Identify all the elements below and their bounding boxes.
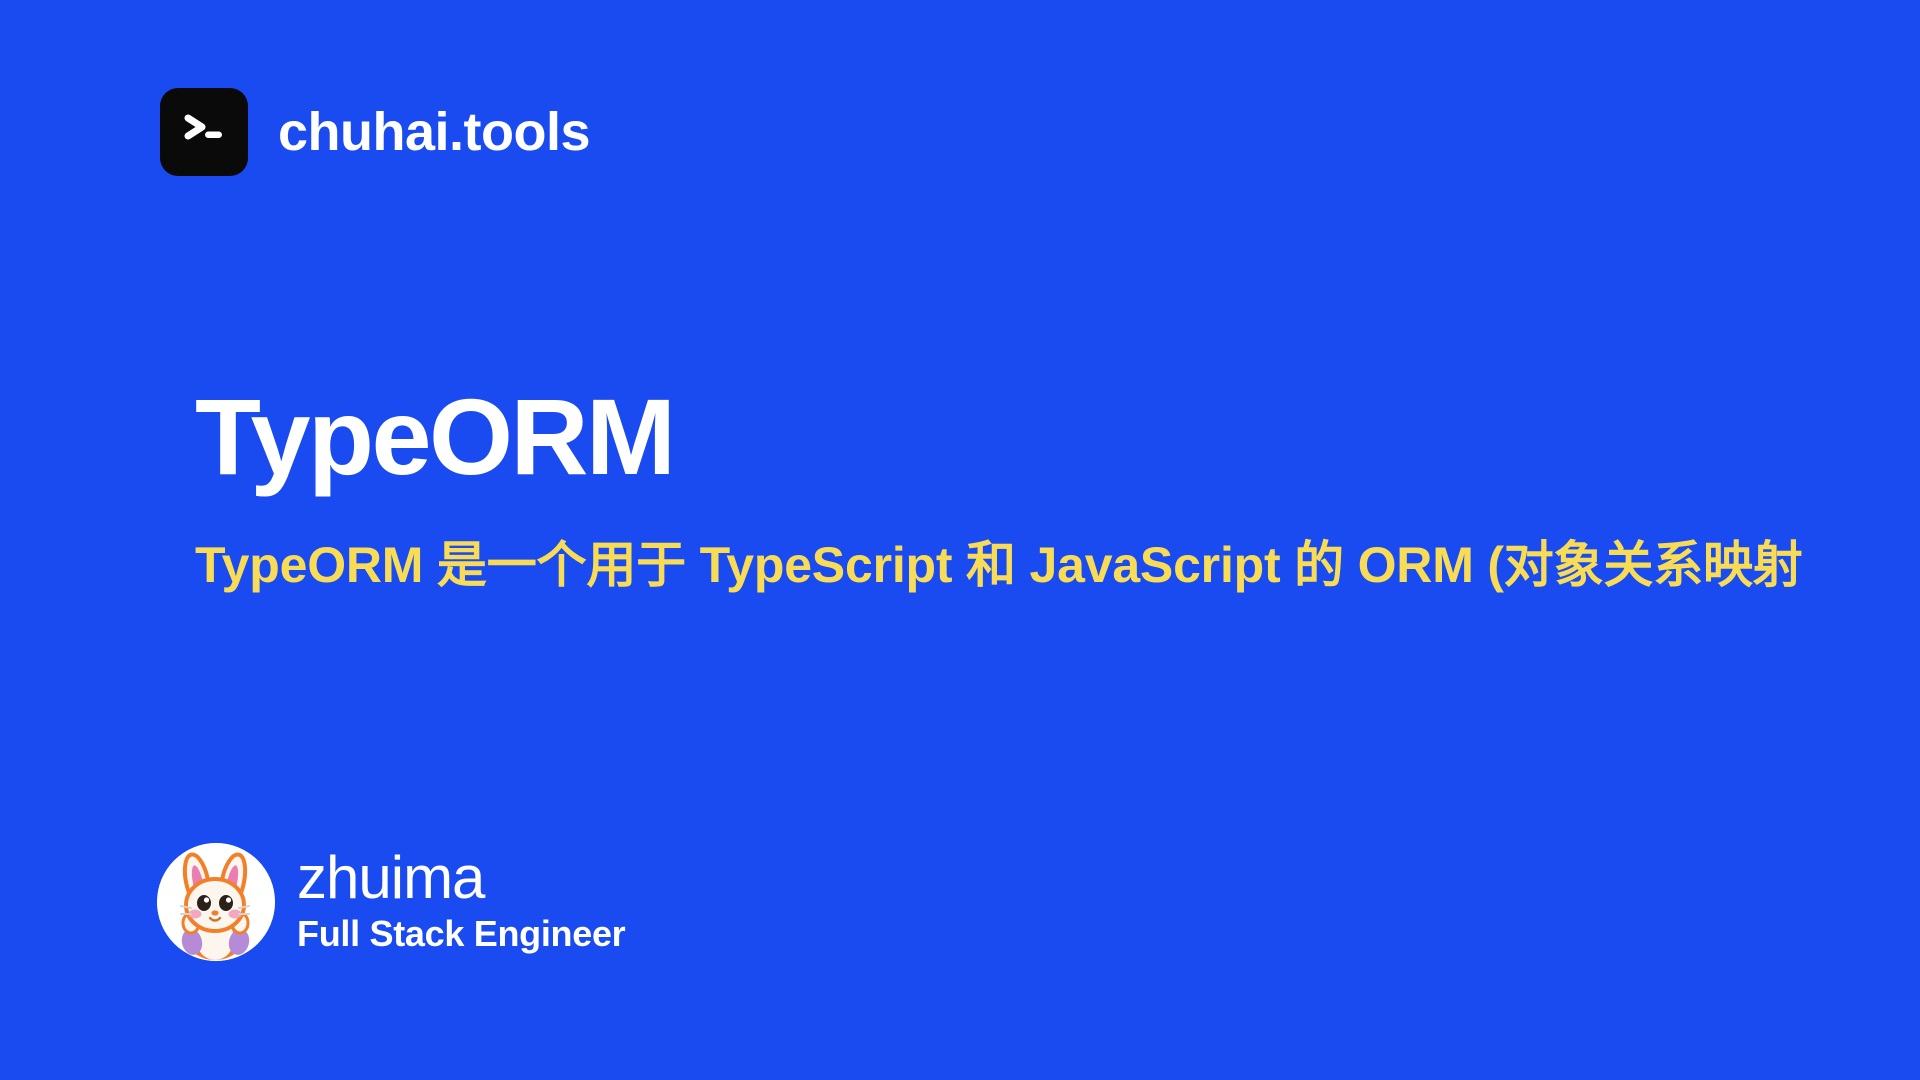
tool-description: TypeORM 是一个用于 TypeScript 和 JavaScript 的 …: [195, 532, 1865, 598]
main-content: TypeORM TypeORM 是一个用于 TypeScript 和 JavaS…: [195, 382, 1865, 598]
promo-card: chuhai.tools TypeORM TypeORM 是一个用于 TypeS…: [0, 0, 1920, 1080]
author-role: Full Stack Engineer: [297, 912, 625, 955]
author-text: zhuima Full Stack Engineer: [297, 847, 625, 957]
page-title: TypeORM: [195, 382, 1865, 492]
brand-name: chuhai.tools: [278, 105, 590, 159]
author-name: zhuima: [297, 847, 625, 909]
brand-header[interactable]: chuhai.tools: [160, 88, 590, 176]
author-block[interactable]: zhuima Full Stack Engineer: [157, 843, 625, 961]
rabbit-avatar-icon: [157, 843, 275, 961]
terminal-prompt-icon: [160, 88, 248, 176]
